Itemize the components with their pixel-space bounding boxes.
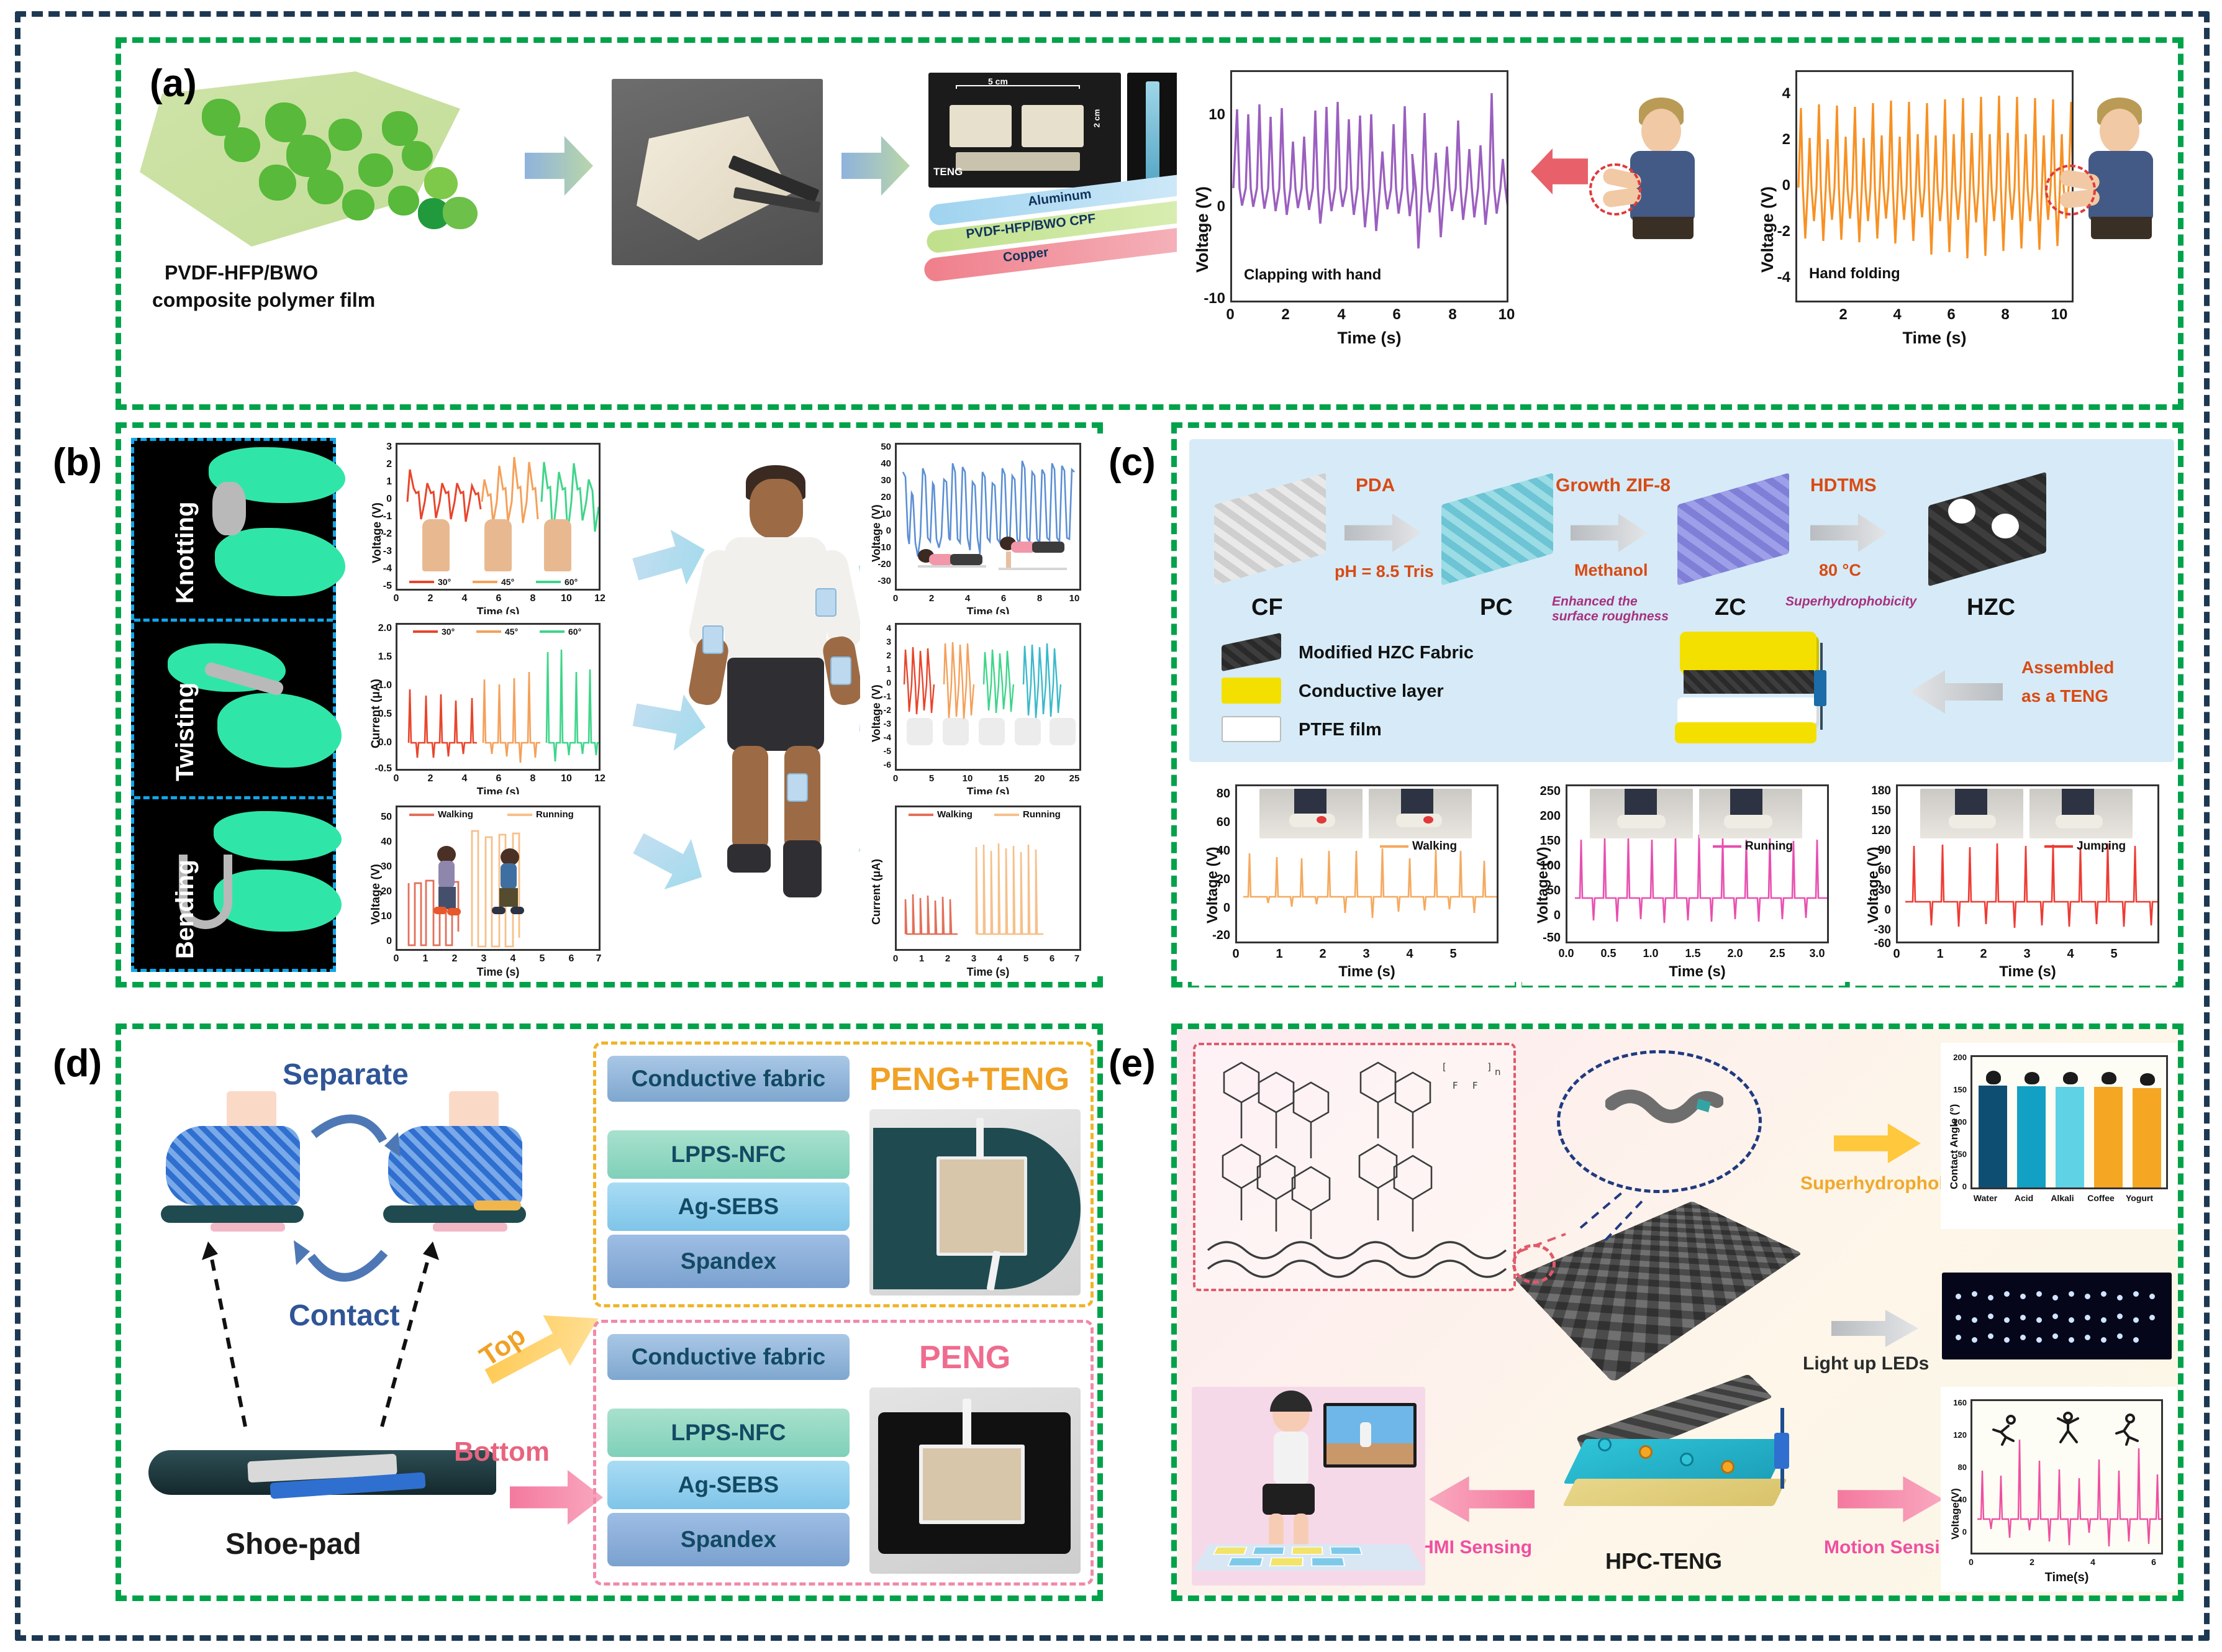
- chart-b1-legend-item: 30°: [409, 577, 451, 587]
- chart-b1-ytick: -3: [366, 546, 392, 557]
- chart-a1-xlabel: Time (s): [1230, 329, 1508, 348]
- peng-stack-group: Conductive fabric LPPS-NFC Ag-SEBS Spand…: [593, 1320, 1094, 1586]
- chart-b-gesture-voltage: Voltage (V) 4 3 2 1 0 -1 -2 -3 -4 -5 -6: [860, 614, 1109, 796]
- shoe-contact-diagram: Separate: [134, 1042, 587, 1588]
- film-particle: [424, 167, 458, 199]
- chart-c1-xlabel: Time (s): [1235, 963, 1499, 981]
- panel-label-a: (a): [150, 61, 197, 106]
- chart-a2-annotation: Hand folding: [1809, 265, 1900, 283]
- label-shoe-pad: Shoe-pad: [225, 1527, 361, 1561]
- layer-lpps-nfc-bottom: LPPS-NFC: [607, 1409, 850, 1457]
- chart-b5-xtick: 20: [1032, 773, 1048, 784]
- chart-b3-ytick: 20: [366, 886, 392, 897]
- chart-a1-ytick: 0: [1192, 198, 1225, 216]
- chart-b6-xtick: 2: [940, 953, 956, 964]
- chart-c2-ytick: 150: [1525, 834, 1561, 848]
- panel-label-c: (c): [1109, 440, 1156, 484]
- chart-b2-xtick: 8: [525, 773, 541, 784]
- chart-b1-ytick: -5: [366, 581, 392, 592]
- chart-b2-xtick: 10: [557, 773, 576, 784]
- panel-b: Knotting Twisting Bending Voltage (V) 3 …: [116, 422, 1103, 987]
- fiber-svg: [1605, 1089, 1723, 1142]
- chart-b3-plot-area: [396, 806, 601, 951]
- sensor-patch-wrist: [702, 625, 723, 654]
- chart-c1-ytick: 60: [1202, 815, 1230, 830]
- chart-e1-xtick: Water: [1967, 1193, 2004, 1203]
- gloved-hand: [214, 869, 342, 932]
- chart-c3-ytick: 60: [1856, 864, 1891, 878]
- scale-top: 5 cm: [988, 76, 1008, 86]
- chart-c3-xtick: 5: [2106, 947, 2122, 961]
- chart-b5-ytick: -5: [861, 746, 891, 756]
- chart-b1-ytick: 2: [368, 459, 392, 470]
- panel-label-e: (e): [1109, 1042, 1156, 1086]
- chart-b6-trace: [897, 807, 1081, 951]
- film-particle: [443, 197, 478, 229]
- sock-left: [158, 1091, 314, 1215]
- chart-b4-xtick: 8: [1032, 593, 1048, 604]
- chart-b5-ytick: 3: [864, 637, 891, 647]
- synthesis-schematic-box: CF PDA pH = 8.5 Tris PC Growth ZIF-8 Met…: [1189, 439, 2174, 762]
- chart-contact-angle: Contact Angle (°) 200 150 100 50 0 Water…: [1941, 1043, 2177, 1229]
- highlight-circle: [1589, 163, 1641, 216]
- chart-c2-plot-area: Running: [1566, 784, 1829, 943]
- legend-label: Running: [1023, 809, 1061, 820]
- chart-e1-ytick: 150: [1942, 1085, 1967, 1094]
- chart-b1-ytick: -2: [366, 529, 392, 540]
- chart-c3-legend-item: Jumping: [2044, 840, 2126, 853]
- assembly-arrow: [1910, 670, 2003, 714]
- teng-side-photo: [1127, 73, 1182, 188]
- cf-fabric-mesh: [1214, 473, 1326, 586]
- chart-c1-xtick: 2: [1315, 947, 1331, 961]
- film-particle: [307, 170, 343, 204]
- chart-b2-legend-item: 45°: [476, 627, 518, 637]
- film-particle: [224, 127, 260, 162]
- chart-e2-xtick: 0: [1963, 1557, 1979, 1567]
- layer-spandex-bottom: Spandex: [607, 1513, 850, 1566]
- chart-c2-xtick: 1.0: [1636, 947, 1665, 960]
- led-array-photo: [1942, 1273, 2172, 1359]
- chart-c2-ytick: 250: [1525, 784, 1561, 799]
- chart-a2-xlabel: Time (s): [1795, 329, 2074, 348]
- synthesis-arrow-3: [1810, 514, 1887, 552]
- chart-b6-legend-item: Running: [994, 809, 1061, 820]
- process-arrow-2: [841, 136, 910, 196]
- chart-b6-plot-area: [895, 806, 1081, 951]
- chart-b6-xtick: 5: [1018, 953, 1034, 964]
- chart-c2-xtick: 3.0: [1803, 947, 1831, 960]
- chart-e2-ytick: 0: [1942, 1527, 1967, 1536]
- legend-swatch: [994, 814, 1019, 816]
- teng-photo-caption: TENG: [933, 166, 963, 178]
- chart-b4-ytick: 0: [864, 525, 891, 536]
- shoe-pad-photo: [148, 1432, 496, 1512]
- label-hmi-sensing: HMI Sensing: [1420, 1537, 1532, 1558]
- chart-c3-ytick: 150: [1856, 804, 1891, 818]
- gesture-icon: [979, 718, 1005, 745]
- chart-b6-xtick: 6: [1044, 953, 1060, 964]
- chart-e1-xtick: Alkali: [2044, 1193, 2081, 1203]
- panel-c: CF PDA pH = 8.5 Tris PC Growth ZIF-8 Met…: [1171, 422, 2183, 987]
- callout-arrow-left: [1531, 148, 1588, 194]
- chart-b-bend-angle-voltage: Voltage (V) 3 2 1 0 -1 -2 -3 -4 -5: [361, 434, 634, 615]
- polymer-structure-svg: []n FF: [1195, 1045, 1518, 1294]
- chart-b3-ytick: 30: [366, 861, 392, 873]
- pc-fabric-mesh: [1441, 473, 1553, 586]
- chart-c3-ytick: 120: [1856, 824, 1891, 838]
- chart-e1-ytick: 50: [1942, 1150, 1967, 1159]
- chart-c-jumping: Voltage (V) 180 150 120 90 60 30 0 -30 -…: [1852, 768, 2175, 986]
- chart-b4-ytick: -30: [861, 576, 891, 586]
- figure-root: PVDF-HFP/BWO composite polymer film TENG…: [0, 0, 2222, 1652]
- chart-e1-xtick: Yogurt: [2121, 1193, 2158, 1203]
- pushup-up-icon: [999, 535, 1067, 574]
- chart-b-walking-running-current: Current (μA) Walking Running 0 1 2: [860, 794, 1109, 976]
- hpc-teng-device: [1556, 1394, 1823, 1543]
- chart-b2-legend-item: 60°: [540, 627, 581, 637]
- chart-c3-ytick: 180: [1856, 784, 1891, 798]
- chart-c1-ytick: 40: [1202, 844, 1230, 858]
- legend-chip-conductive: [1222, 678, 1281, 704]
- chart-b2-xtick: 2: [422, 773, 438, 784]
- chart-b5-ytick: 1: [864, 664, 891, 674]
- chart-b3-xtick: 6: [563, 953, 579, 964]
- chart-c2-xtick: 0.5: [1594, 947, 1623, 960]
- legend-chip-ptfe: [1222, 716, 1281, 742]
- svg-text:[: [: [1443, 1061, 1446, 1073]
- chart-c1-legend-item: Walking: [1380, 840, 1457, 853]
- chart-b3-xtick: 0: [388, 953, 404, 964]
- chart-a1-xtick: 6: [1384, 306, 1409, 324]
- film-label-line1: PVDF-HFP/BWO: [165, 261, 318, 284]
- chart-a1-annotation: Clapping with hand: [1244, 266, 1381, 284]
- chart-b1-plot-area: [396, 443, 601, 591]
- chart-b6-ylabel: Current (μA): [870, 859, 883, 925]
- bar-acid: [2017, 1086, 2046, 1187]
- chart-b1-xtick: 0: [388, 593, 404, 604]
- legend-label: Jumping: [2077, 840, 2126, 853]
- chart-b3-ytick: 50: [366, 812, 392, 823]
- chart-c1-xtick: 5: [1445, 947, 1461, 961]
- panel-label-b: (b): [53, 440, 102, 484]
- chart-b1-ytick: 1: [368, 476, 392, 488]
- hand-icon-45deg: [484, 519, 512, 571]
- folded-film-photo: [612, 79, 823, 265]
- chart-c3-ytick: -30: [1854, 924, 1891, 937]
- legend-label: 60°: [568, 627, 581, 637]
- peng-teng-stack-group: Conductive fabric LPPS-NFC Ag-SEBS Spand…: [593, 1042, 1094, 1307]
- chart-b2-ytick: 1.0: [362, 680, 392, 691]
- chart-b5-xtick: 15: [995, 773, 1012, 784]
- chart-a1-xtick: 2: [1273, 306, 1298, 324]
- running-photo-right: [1699, 789, 1802, 838]
- sock-right: [381, 1091, 536, 1215]
- chart-b2-ytick: 0.5: [362, 709, 392, 720]
- deformation-photo-strip: Knotting Twisting Bending: [131, 438, 336, 972]
- chart-c3-ytick: -60: [1854, 937, 1891, 951]
- chart-a2-ytick: 0: [1757, 177, 1790, 194]
- hand-icon-60deg: [544, 519, 571, 571]
- chart-e1-ytick: 200: [1942, 1053, 1967, 1062]
- person-hand-folding: [2059, 98, 2183, 240]
- chart-c1-ytick: -20: [1195, 928, 1230, 943]
- panel-e: []n FF Superhydrophobic Contact Angle (°…: [1171, 1023, 2183, 1601]
- chart-b1-legend-item: 60°: [536, 577, 578, 587]
- legend-swatch: [413, 630, 438, 633]
- chart-b2-ytick: -0.5: [361, 763, 392, 774]
- chart-b-walking-running-voltage: Voltage (V) 50 40 30 20 10 0: [361, 794, 634, 976]
- chart-e2-xtick: 6: [2146, 1557, 2162, 1567]
- legend-label-hzc: Modified HZC Fabric: [1299, 643, 1474, 663]
- chart-c3-ytick: 0: [1856, 904, 1891, 917]
- label-hpc-teng: HPC-TENG: [1605, 1548, 1722, 1574]
- running-pictogram: [1988, 1414, 2023, 1448]
- chart-b5-trace: [897, 625, 1081, 771]
- legend-swatch: [476, 630, 501, 633]
- chart-b2-xtick: 4: [456, 773, 473, 784]
- chart-b1-ytick: 0: [368, 494, 392, 505]
- chart-c1-plot-area: Walking: [1235, 784, 1499, 943]
- chart-b5-ytick: -6: [861, 760, 891, 769]
- step-label-zc: ZC: [1715, 594, 1746, 621]
- gesture-icon: [1050, 718, 1076, 745]
- chart-b2-ytick: 1.5: [362, 651, 392, 663]
- chart-b1-ytick: -4: [366, 563, 392, 574]
- chart-c3-ytick: 90: [1856, 844, 1891, 858]
- chart-c3-xtick: 0: [1889, 947, 1905, 961]
- chart-b2-plot-area: [396, 623, 601, 771]
- scale-side: 2 cm: [1092, 109, 1101, 128]
- chart-b1-xtick: 6: [491, 593, 507, 604]
- chart-e1-plot-area: [1970, 1055, 2168, 1189]
- chart-b2-xtick: 6: [491, 773, 507, 784]
- label-contact: Contact: [289, 1299, 400, 1333]
- legend-swatch: [507, 814, 532, 816]
- chart-e1-ytick: 100: [1942, 1117, 1967, 1127]
- single-fiber-illustration: [1605, 1089, 1723, 1142]
- reagent-hdtms: HDTMS: [1810, 475, 1877, 496]
- chart-a2-ytick: -2: [1751, 223, 1790, 240]
- running-photo-left: [1590, 789, 1693, 838]
- chart-b1-xtick: 4: [456, 593, 473, 604]
- assembly-label-line2: as a TENG: [2021, 686, 2108, 706]
- chart-b6-xtick: 1: [914, 953, 930, 964]
- teng-device-photo: TENG 5 cm 2 cm: [928, 73, 1121, 188]
- bar-coffee: [2094, 1087, 2123, 1187]
- chart-b4-xtick: 0: [887, 593, 904, 604]
- chart-a2-xtick: 8: [1993, 306, 2018, 324]
- label-light-up-leds: Light up LEDs: [1803, 1353, 1929, 1374]
- chart-b4-ytick: 40: [864, 458, 891, 469]
- chart-c1-xtick: 0: [1228, 947, 1244, 961]
- legend-label: Running: [1745, 840, 1793, 853]
- peng-teng-title: PENG+TENG: [869, 1061, 1069, 1098]
- panel-a: PVDF-HFP/BWO composite polymer film TENG…: [116, 37, 2183, 410]
- reagent-growth-zif8: Growth ZIF-8: [1556, 475, 1671, 496]
- chart-b3-ytick: 40: [366, 837, 392, 848]
- gesture-icon: [1015, 718, 1041, 745]
- layer-lpps-nfc-top: LPPS-NFC: [607, 1130, 850, 1179]
- droplet-icon: [2102, 1072, 2116, 1084]
- legend-label-conductive: Conductive layer: [1299, 681, 1444, 702]
- jumping-photo-right: [2029, 789, 2133, 838]
- legend-label: 45°: [505, 627, 518, 637]
- layer-conductive-fabric-top: Conductive fabric: [607, 1056, 850, 1102]
- chart-c2-ytick: -50: [1522, 931, 1561, 945]
- chart-b3-xtick: 7: [591, 953, 607, 964]
- legend-label: Walking: [438, 809, 473, 820]
- legend-label: Running: [536, 809, 574, 820]
- hmi-screen: [1323, 1403, 1417, 1468]
- chart-a2-ytick: 2: [1757, 131, 1790, 148]
- chart-b6-xlabel: Time (s): [895, 966, 1081, 979]
- bar-alkali: [2056, 1087, 2084, 1187]
- svg-text:F: F: [1472, 1080, 1478, 1091]
- chart-c2-legend-item: Running: [1713, 840, 1793, 853]
- chart-b3-xtick: 5: [534, 953, 550, 964]
- peng-title: PENG: [919, 1339, 1010, 1376]
- chart-c2-ytick: 50: [1525, 884, 1561, 898]
- chart-b2-xtick: 12: [591, 773, 609, 784]
- chart-b4-ytick: 20: [864, 492, 891, 502]
- svg-text:n: n: [1495, 1066, 1501, 1078]
- assembly-label-line1: Assembled: [2021, 658, 2114, 678]
- chart-c3-xtick: 2: [1975, 947, 1992, 961]
- legend-label: 30°: [442, 627, 455, 637]
- chart-a2-xtick: 4: [1885, 306, 1910, 324]
- sensor-patch-forearm: [830, 656, 851, 685]
- chart-b4-ytick: 50: [864, 442, 891, 452]
- film-particle: [388, 186, 419, 216]
- chart-b5-ytick: 0: [864, 678, 891, 688]
- step-label-cf: CF: [1251, 594, 1283, 621]
- droplet-icon: [2063, 1072, 2078, 1084]
- legend-swatch: [536, 581, 561, 583]
- legend-label: Walking: [1412, 840, 1457, 853]
- chart-b4-ytick: -20: [861, 559, 891, 570]
- chart-e2-xlabel: Time(s): [1970, 1571, 2163, 1585]
- running-figure-icon: [492, 848, 525, 920]
- chart-a2-xtick: 2: [1831, 306, 1856, 324]
- chart-b2-ytick: 2.0: [362, 623, 392, 634]
- synthesis-arrow-1: [1345, 514, 1422, 552]
- chart-b4-ytick: -10: [861, 542, 891, 553]
- film-particle: [358, 153, 393, 187]
- chart-a1-xtick: 4: [1329, 306, 1354, 324]
- svg-text:]: ]: [1487, 1061, 1491, 1073]
- chart-b3-xtick: 4: [505, 953, 521, 964]
- chart-b4-xtick: 10: [1065, 593, 1084, 604]
- photo-divider: [134, 796, 333, 799]
- chart-b6-legend-item: Walking: [909, 809, 973, 820]
- legend-swatch: [909, 814, 933, 816]
- legend-swatch: [2044, 845, 2073, 848]
- chart-e2-ytick: 80: [1942, 1463, 1967, 1472]
- photo-label-knotting: Knotting: [171, 502, 199, 604]
- chart-b6-xtick: 3: [966, 953, 982, 964]
- assembled-teng-device: [1655, 632, 1879, 750]
- chart-b3-xlabel: Time (s): [396, 966, 601, 979]
- chart-a1-xtick: 8: [1440, 306, 1465, 324]
- label-separate: Separate: [283, 1058, 409, 1092]
- chart-c1-xtick: 4: [1402, 947, 1418, 961]
- photo-label-twisting: Twisting: [171, 683, 199, 781]
- layer-ag-sebs-top: Ag-SEBS: [607, 1182, 850, 1231]
- chart-a1-xtick: 0: [1218, 306, 1243, 324]
- note-surface-roughness: Enhanced the surface roughness: [1552, 594, 1670, 624]
- pushup-down-icon: [918, 545, 986, 573]
- chart-b4-xtick: 4: [959, 593, 976, 604]
- reagent-ph-tris: pH = 8.5 Tris: [1335, 562, 1434, 581]
- legend-chip-hzc: [1222, 633, 1281, 671]
- chart-b5-ytick: 2: [864, 650, 891, 660]
- chart-c1-ytick: 0: [1202, 901, 1230, 915]
- svg-text:F: F: [1453, 1080, 1458, 1091]
- chart-b3-legend-item: Walking: [409, 809, 473, 820]
- chart-b5-xtick: 5: [923, 773, 940, 784]
- bottom-arrow: [510, 1470, 603, 1525]
- chart-c3-xtick: 1: [1932, 947, 1948, 961]
- chart-c2-xtick: 2.0: [1721, 947, 1749, 960]
- chart-e2-ytick: 120: [1942, 1430, 1967, 1440]
- chart-b5-ytick: -1: [861, 691, 891, 701]
- chart-a1-ytick: 10: [1192, 106, 1225, 124]
- chart-b6-xtick: 7: [1069, 953, 1085, 964]
- layer-conductive-fabric-bottom: Conductive fabric: [607, 1334, 850, 1380]
- chart-c2-xtick: 0.0: [1552, 947, 1580, 960]
- process-arrow-1: [525, 136, 593, 196]
- hmi-demo-illustration: [1192, 1387, 1425, 1586]
- chart-b3-xtick: 2: [447, 953, 463, 964]
- chart-b1-xtick: 2: [422, 593, 438, 604]
- layer-ag-sebs-bottom: Ag-SEBS: [607, 1461, 850, 1509]
- chart-b1-legend-item: 45°: [473, 577, 514, 587]
- chart-c3-xlabel: Time (s): [1896, 963, 2159, 981]
- panel-d: Separate: [116, 1023, 1103, 1601]
- gloved-hand: [214, 811, 342, 861]
- legend-label: 60°: [565, 577, 578, 587]
- chart-c1-ytick: 80: [1202, 787, 1230, 801]
- chart-e1-xtick: Coffee: [2082, 1193, 2120, 1203]
- legend-label: Walking: [937, 809, 973, 820]
- human-body-diagram: [668, 459, 885, 931]
- legend-swatch: [1380, 845, 1408, 848]
- chart-c1-xtick: 3: [1358, 947, 1374, 961]
- chart-c-walking: Voltage (V) 80 60 40 20 0 -20: [1192, 768, 1515, 986]
- reagent-methanol: Methanol: [1574, 561, 1648, 580]
- film-label-line2: composite polymer film: [152, 289, 375, 312]
- legend-swatch: [409, 581, 434, 583]
- film-particle: [259, 165, 296, 201]
- chart-c2-xtick: 1.5: [1679, 947, 1707, 960]
- photo-divider: [134, 619, 333, 622]
- fiber-knot: [212, 482, 246, 535]
- chart-b4-xtick: 6: [995, 593, 1012, 604]
- chart-e2-ytick: 160: [1942, 1398, 1967, 1407]
- chart-b1-xtick: 8: [525, 593, 541, 604]
- chart-e2-plot-area: [1970, 1399, 2163, 1554]
- note-superhydrophobicity: Superhydrophobicity: [1785, 594, 1916, 609]
- jumping-pictogram: [2051, 1411, 2085, 1446]
- chart-b3-ytick: 0: [366, 936, 392, 947]
- chart-b3-xtick: 3: [476, 953, 492, 964]
- legend-label-ptfe: PTFE film: [1299, 720, 1382, 740]
- chart-b2-ytick: 0.0: [362, 737, 392, 748]
- chart-b4-ytick: 10: [864, 509, 891, 519]
- chart-b6-xtick: 4: [992, 953, 1008, 964]
- film-particle: [342, 189, 374, 220]
